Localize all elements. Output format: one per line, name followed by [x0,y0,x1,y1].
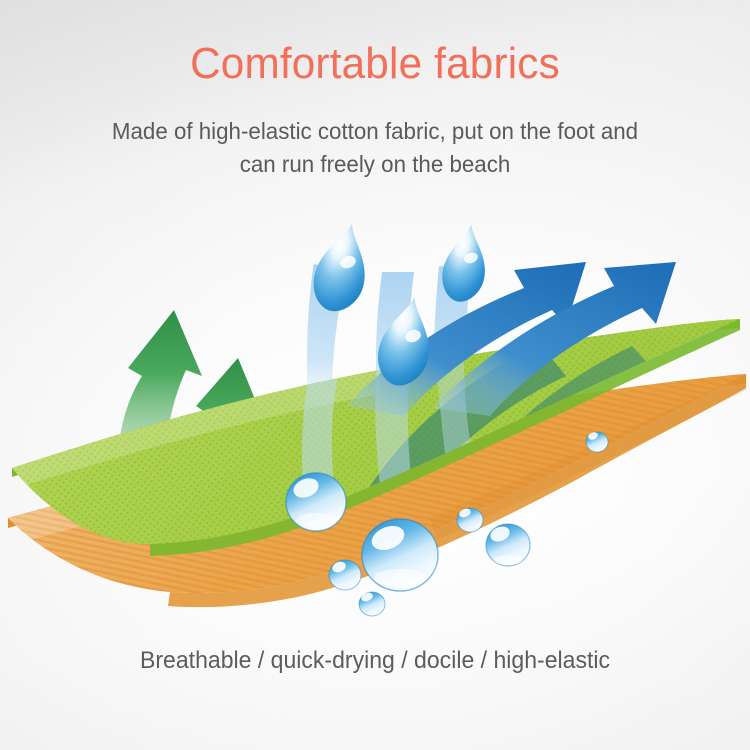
page-title: Comfortable fabrics [15,38,735,90]
subtitle-line-2: can run freely on the beach [19,148,732,181]
page-subtitle: Made of high-elastic cotton fabric, put … [19,115,732,181]
product-feature-poster: Comfortable fabrics Made of high-elastic… [0,0,750,750]
water-bead [286,473,346,531]
subtitle-line-1: Made of high-elastic cotton fabric, put … [19,115,732,148]
water-bead [457,507,483,532]
water-bead [362,519,438,591]
water-bead [359,591,385,616]
fabric-illustration [0,218,750,628]
feature-caption: Breathable / quick-drying / docile / hig… [15,645,735,677]
water-bead [486,524,530,566]
water-bead [329,560,361,590]
